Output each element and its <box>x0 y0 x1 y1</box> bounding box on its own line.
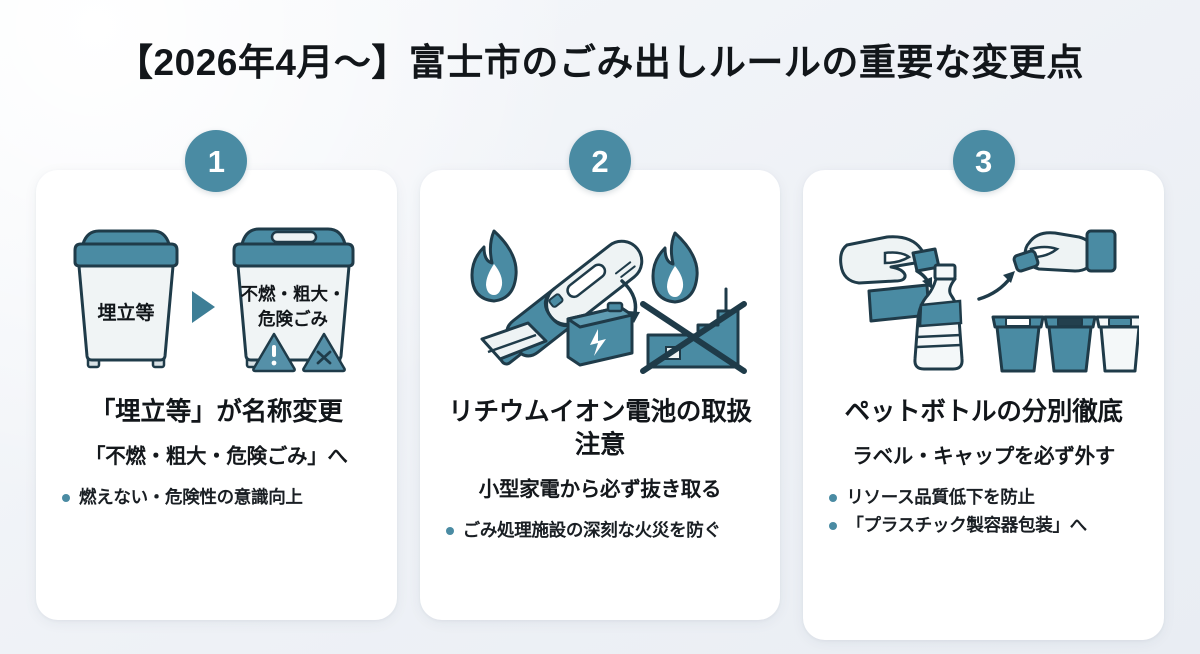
bin-rename-illustration: 埋立等 不燃・粗大・ 危険ごみ <box>54 216 379 386</box>
card-lithium-battery[interactable]: 2 <box>420 170 781 620</box>
card-heading-2: リチウムイオン電池の取扱注意 <box>438 396 763 462</box>
svg-text:埋立等: 埋立等 <box>98 301 155 324</box>
new-bin-icon: 不燃・粗大・ 危険ごみ <box>234 229 353 367</box>
card-heading-1: 「埋立等」が名称変更 <box>54 396 379 429</box>
pet-bottle-icon <box>915 265 962 369</box>
hand-removing-cap-icon <box>1013 231 1115 272</box>
card-subtitle-1: 「不燃・粗大・危険ごみ」へ <box>54 443 379 471</box>
crossed-out-factory-icon <box>643 289 744 371</box>
card-bullets-2: ごみ処理施設の深刻な火災を防ぐ <box>438 518 763 546</box>
card-number-badge-2: 2 <box>569 130 631 192</box>
arrow-up-icon <box>979 271 1015 299</box>
card-subtitle-2: 小型家電から必ず抜き取る <box>438 476 763 504</box>
card-subtitle-3: ラベル・キャップを必ず外す <box>821 443 1146 471</box>
svg-text:不燃・粗大・: 不燃・粗大・ <box>241 284 346 304</box>
cards-row: 1 埋立等 <box>36 170 1164 640</box>
card-name-change[interactable]: 1 埋立等 <box>36 170 397 620</box>
page-header: 【2026年4月〜】富士市のごみ出しルールの重要な変更点 <box>0 40 1200 86</box>
card-number-badge-3: 3 <box>953 130 1015 192</box>
arrow-right-icon <box>192 291 215 323</box>
old-bin-icon: 埋立等 <box>75 231 177 367</box>
card-pet-bottle[interactable]: 3 <box>803 170 1164 640</box>
battery-fire-illustration <box>438 216 763 386</box>
card-number-badge-1: 1 <box>185 130 247 192</box>
list-item: 「プラスチック製容器包装」へ <box>827 513 1140 538</box>
flame-icon-left <box>472 231 516 301</box>
pet-bottle-sorting-illustration <box>821 216 1146 386</box>
card-bullets-1: 燃えない・危険性の意識向上 <box>54 485 379 513</box>
recycling-bins-icon <box>993 317 1139 371</box>
flame-icon-right <box>653 233 697 302</box>
card-bullets-3: リソース品質低下を防止 「プラスチック製容器包装」へ <box>821 485 1146 542</box>
list-item: リソース品質低下を防止 <box>827 485 1140 510</box>
card-heading-3: ペットボトルの分別徹底 <box>821 396 1146 429</box>
list-item: 燃えない・危険性の意識向上 <box>60 485 373 510</box>
svg-text:危険ごみ: 危険ごみ <box>257 309 328 329</box>
list-item: ごみ処理施設の深刻な火災を防ぐ <box>444 518 757 543</box>
page-title: 【2026年4月〜】富士市のごみ出しルールの重要な変更点 <box>0 40 1200 86</box>
